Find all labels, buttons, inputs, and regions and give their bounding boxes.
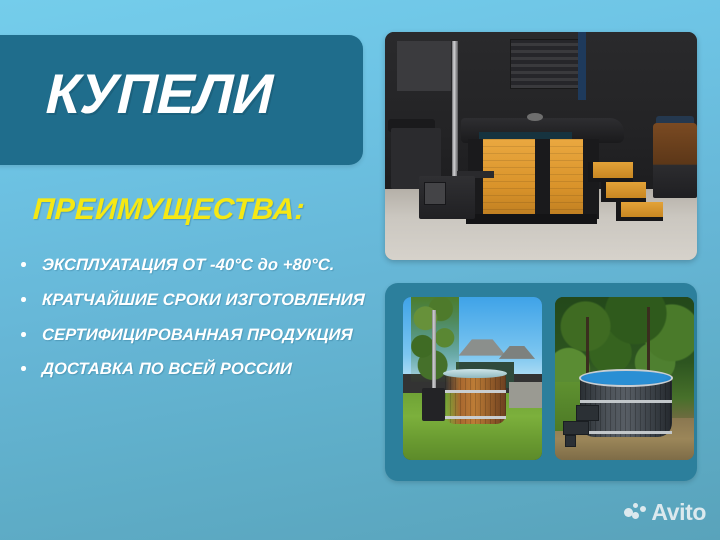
title-banner-box: КУПЕЛИ (0, 35, 363, 165)
tub-band-lower (445, 416, 506, 419)
tub-steps (588, 162, 663, 221)
list-item-label: ЭКСПЛУАТАЦИЯ ОТ -40°С до +80°С. (42, 256, 335, 274)
step-middle (601, 182, 646, 202)
text-column: КУПЕЛИ ПРЕИМУЩЕСТВА: ЭКСПЛУАТАЦИЯ ОТ -40… (0, 0, 378, 540)
photo-grey-tub-blue-liner (555, 297, 694, 460)
step-top (588, 162, 633, 182)
tub-steps (563, 405, 599, 447)
tub-lid-knob (527, 113, 543, 121)
tub-rim (443, 369, 507, 378)
wooden-tub-body (469, 139, 597, 219)
chimney-pipe (432, 310, 436, 392)
bullet-dot-icon (21, 262, 26, 267)
workshop-wall-panel (397, 41, 450, 91)
tub-blue-liner (579, 369, 674, 387)
list-item: КРАТЧАЙШИЕ СРОКИ ИЗГОТОВЛЕНИЯ (16, 290, 367, 311)
photo-square-hot-tub-workshop (385, 32, 697, 260)
workshop-beam (578, 32, 586, 100)
tub-corner-mid (535, 139, 551, 219)
page-title: КУПЕЛИ (45, 61, 274, 126)
avito-watermark: Avito (624, 499, 706, 526)
tub-base-skirt (466, 214, 597, 223)
step-bottom (616, 202, 662, 222)
garden-path (509, 382, 542, 408)
list-item: СЕРТИФИЦИРОВАННАЯ ПРОДУКЦИЯ (16, 325, 367, 346)
chimney-pipe (452, 41, 458, 178)
avito-dots-icon (624, 503, 646, 523)
bullet-dot-icon (21, 332, 26, 337)
wood-stove (422, 388, 444, 421)
tub-band-upper (445, 390, 506, 393)
list-item-label: ДОСТАВКА ПО ВСЕЙ РОССИИ (42, 360, 292, 378)
bullet-dot-icon (21, 297, 26, 302)
list-item-label: КРАТЧАЙШИЕ СРОКИ ИЗГОТОВЛЕНИЯ (42, 291, 365, 309)
advantages-heading: ПРЕИМУЩЕСТВА: (32, 193, 306, 227)
step-top (576, 405, 600, 421)
stove-door (424, 182, 446, 205)
list-item: ЭКСПЛУАТАЦИЯ ОТ -40°С до +80°С. (16, 255, 367, 276)
advantages-list: ЭКСПЛУАТАЦИЯ ОТ -40°С до +80°С. КРАТЧАЙШ… (16, 255, 366, 394)
list-item: ДОСТАВКА ПО ВСЕЙ РОССИИ (16, 359, 367, 380)
photo-round-wooden-tub-lawn (403, 297, 542, 460)
bullet-dot-icon (21, 366, 26, 371)
step-bottom (563, 421, 588, 435)
tub-band-upper (580, 400, 672, 403)
workshop-grille (510, 39, 582, 89)
step-leg (565, 435, 576, 447)
photo-column (378, 0, 720, 540)
list-item-label: СЕРТИФИЦИРОВАННАЯ ПРОДУКЦИЯ (42, 326, 353, 344)
avito-watermark-label: Avito (651, 499, 706, 526)
